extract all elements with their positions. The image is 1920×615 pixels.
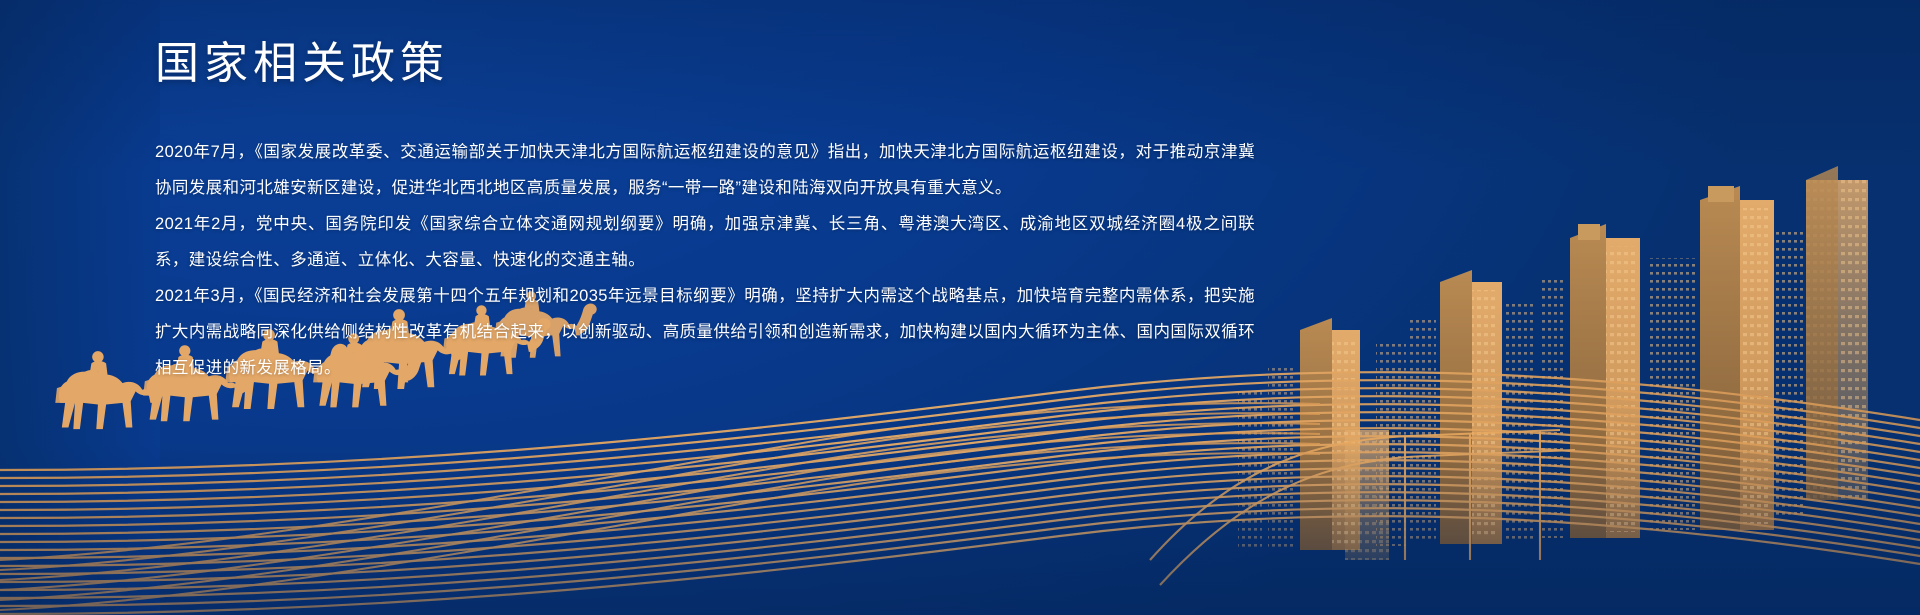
policy-banner: 国家相关政策 2020年7月，《国家发展改革委、交通运输部关于加快天津北方国际航… bbox=[0, 0, 1920, 615]
page-title: 国家相关政策 bbox=[155, 38, 1255, 91]
policy-paragraph-1: 2020年7月，《国家发展改革委、交通运输部关于加快天津北方国际航运枢纽建设的意… bbox=[155, 135, 1255, 207]
text-content: 国家相关政策 2020年7月，《国家发展改革委、交通运输部关于加快天津北方国际航… bbox=[155, 38, 1255, 387]
policy-paragraph-3: 2021年3月，《国民经济和社会发展第十四个五年规划和2035年远景目标纲要》明… bbox=[155, 279, 1255, 387]
background-left-panel bbox=[0, 0, 160, 615]
policy-paragraph-2: 2021年2月，党中央、国务院印发《国家综合立体交通网规划纲要》明确，加强京津冀… bbox=[155, 207, 1255, 279]
